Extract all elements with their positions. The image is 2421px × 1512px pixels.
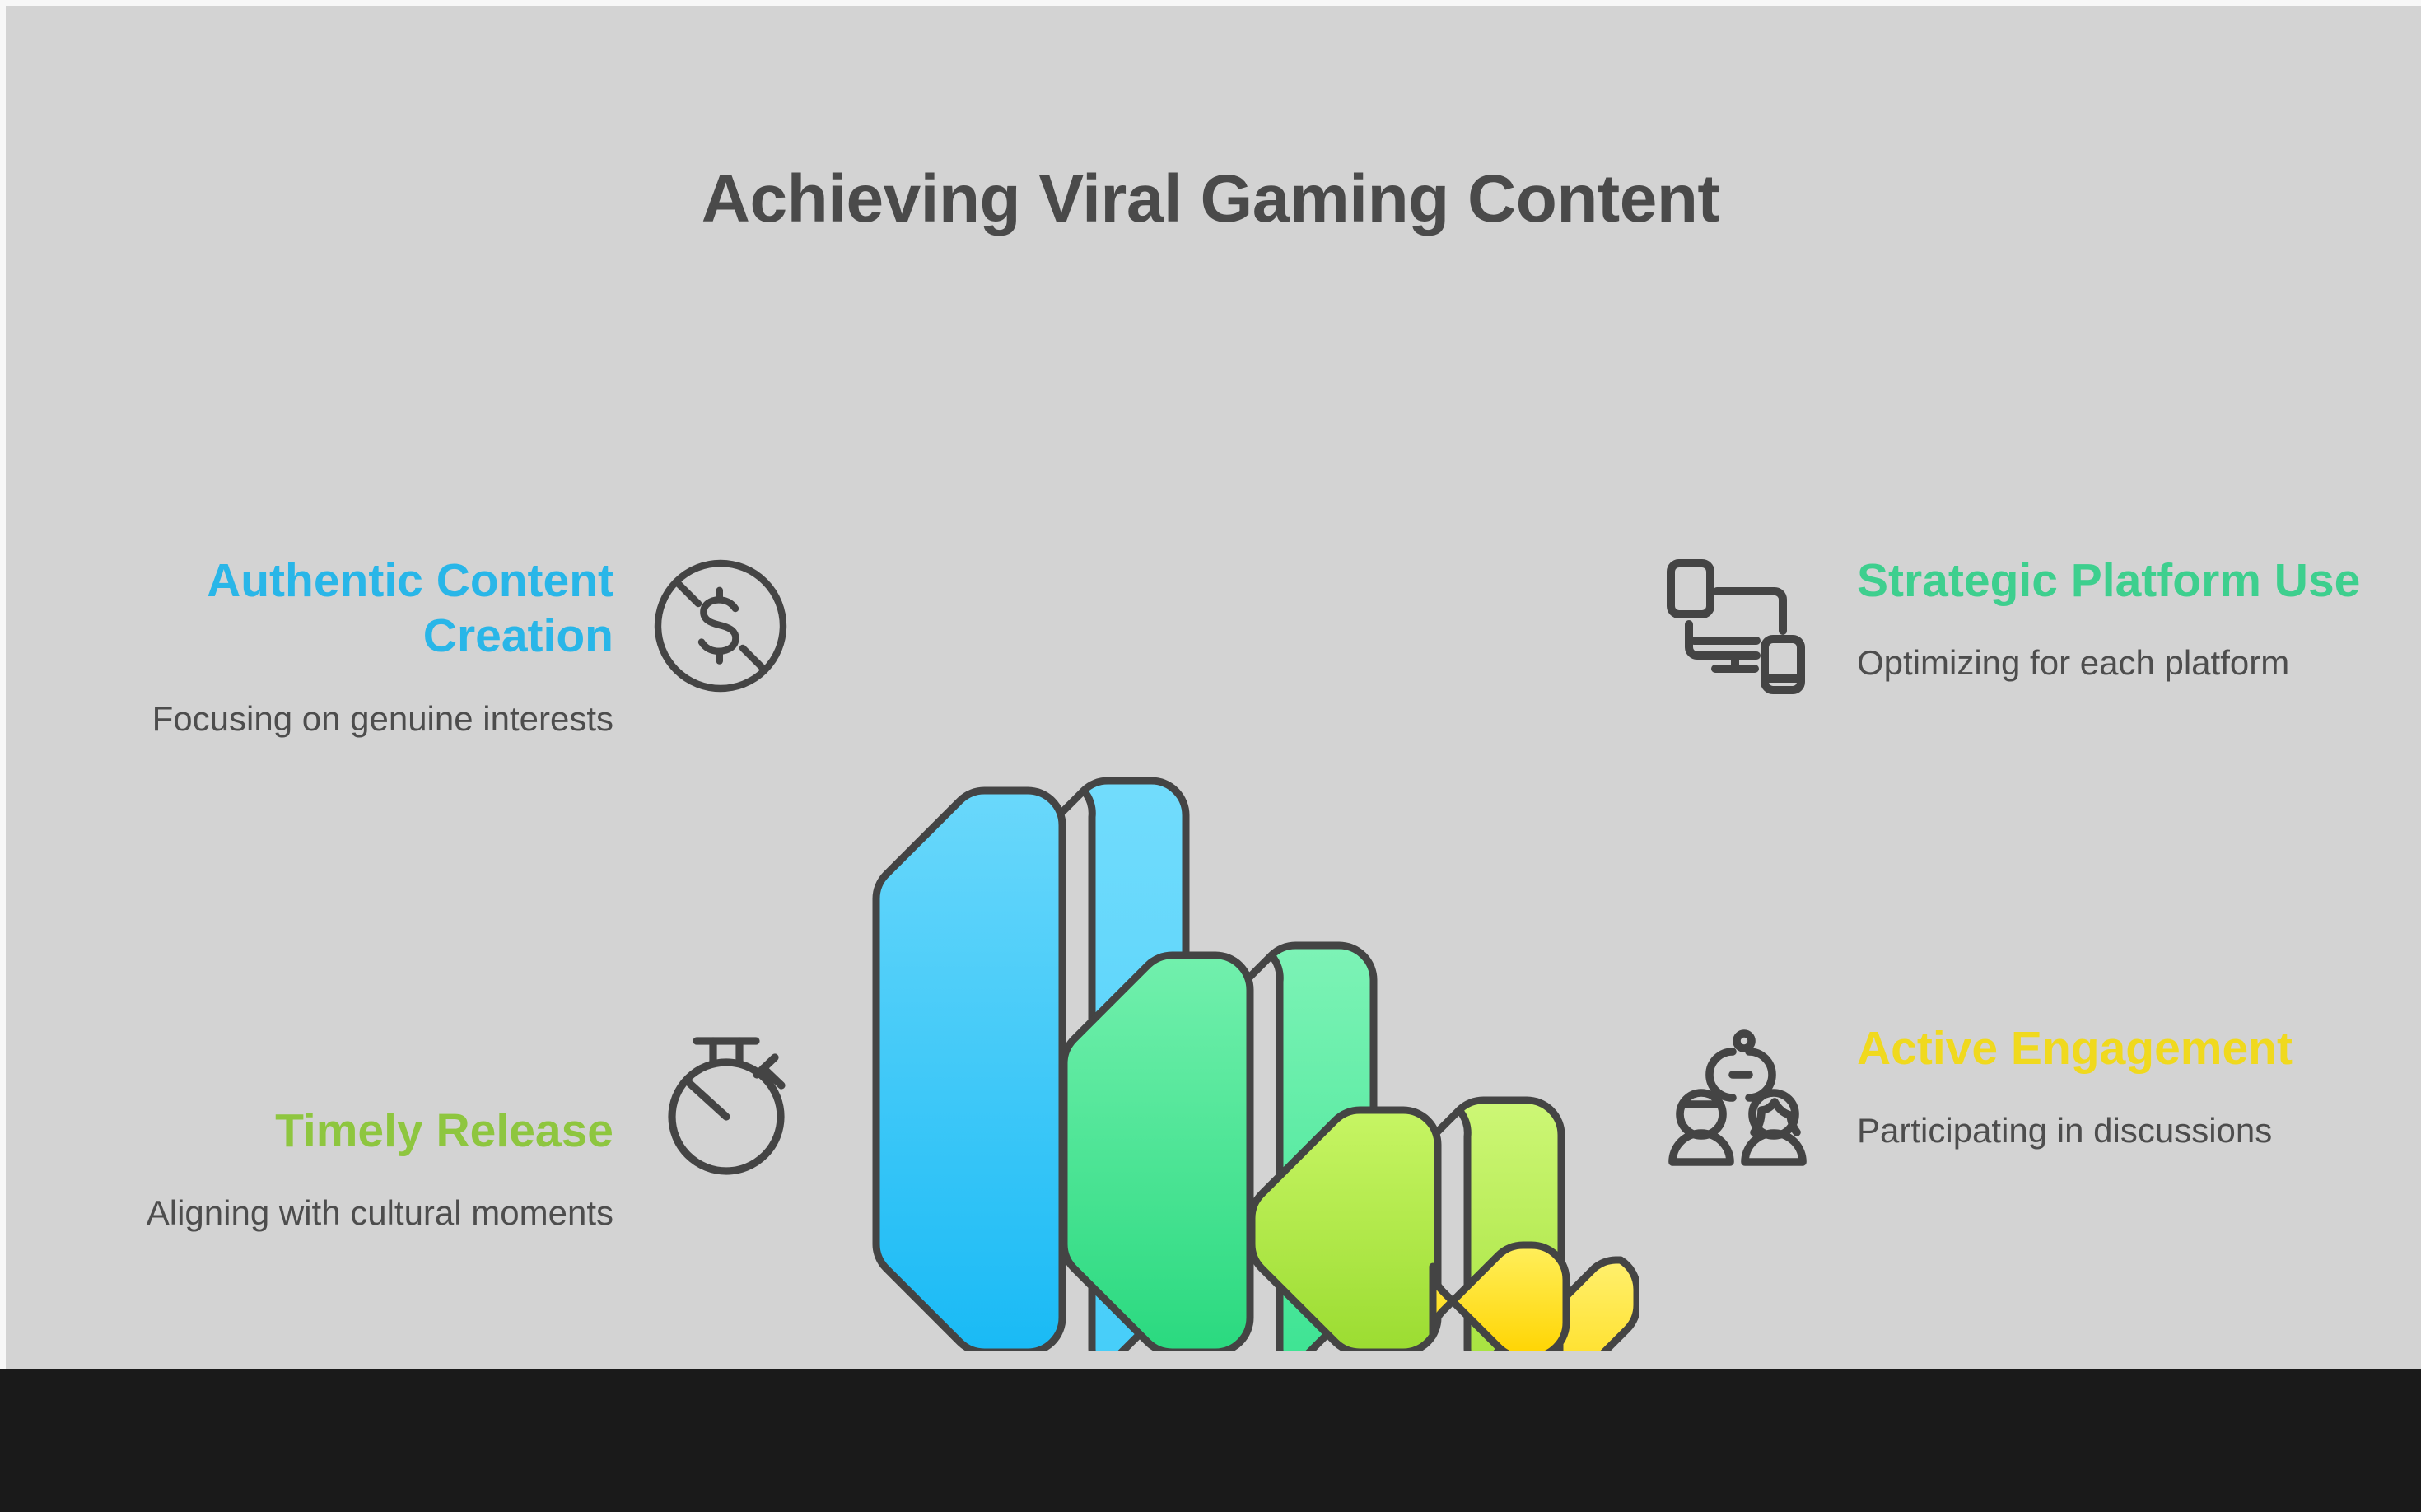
feature-description-authentic-content-creation: Focusing on genuine interests	[86, 696, 613, 741]
stopwatch-icon	[651, 1021, 815, 1186]
feature-block-timely-release: Timely Release Aligning with cultural mo…	[86, 1104, 613, 1236]
footer-bar	[0, 1369, 2421, 1512]
feature-description-strategic-platform-use: Optimizing for each platform	[1857, 640, 2384, 685]
feature-block-active-engagement: Active Engagement Participating in discu…	[1857, 1021, 2384, 1154]
feature-description-timely-release: Aligning with cultural moments	[86, 1190, 613, 1235]
feature-heading-active-engagement: Active Engagement	[1857, 1021, 2384, 1076]
feature-heading-timely-release: Timely Release	[86, 1104, 613, 1159]
multi-device-network-icon	[1643, 544, 1808, 708]
isometric-layered-blocks-chart	[848, 626, 1639, 1351]
dollar-circle-slash-icon	[638, 544, 803, 708]
people-collaboration-icon	[1663, 1013, 1828, 1178]
feature-heading-authentic-content-creation: Authentic Content Creation	[86, 553, 613, 665]
infographic-canvas: Achieving Viral Gaming Content Authentic…	[0, 0, 2421, 1512]
feature-heading-strategic-platform-use: Strategic Platform Use	[1857, 553, 2384, 609]
page-title: Achieving Viral Gaming Content	[0, 161, 2421, 238]
feature-description-active-engagement: Participating in discussions	[1857, 1108, 2384, 1153]
feature-block-authentic-content-creation: Authentic Content Creation Focusing on g…	[86, 553, 613, 741]
chart-block-1-front	[876, 791, 1062, 1351]
feature-block-strategic-platform-use: Strategic Platform Use Optimizing for ea…	[1857, 553, 2384, 686]
chart-block-4-front	[1433, 1245, 1566, 1351]
